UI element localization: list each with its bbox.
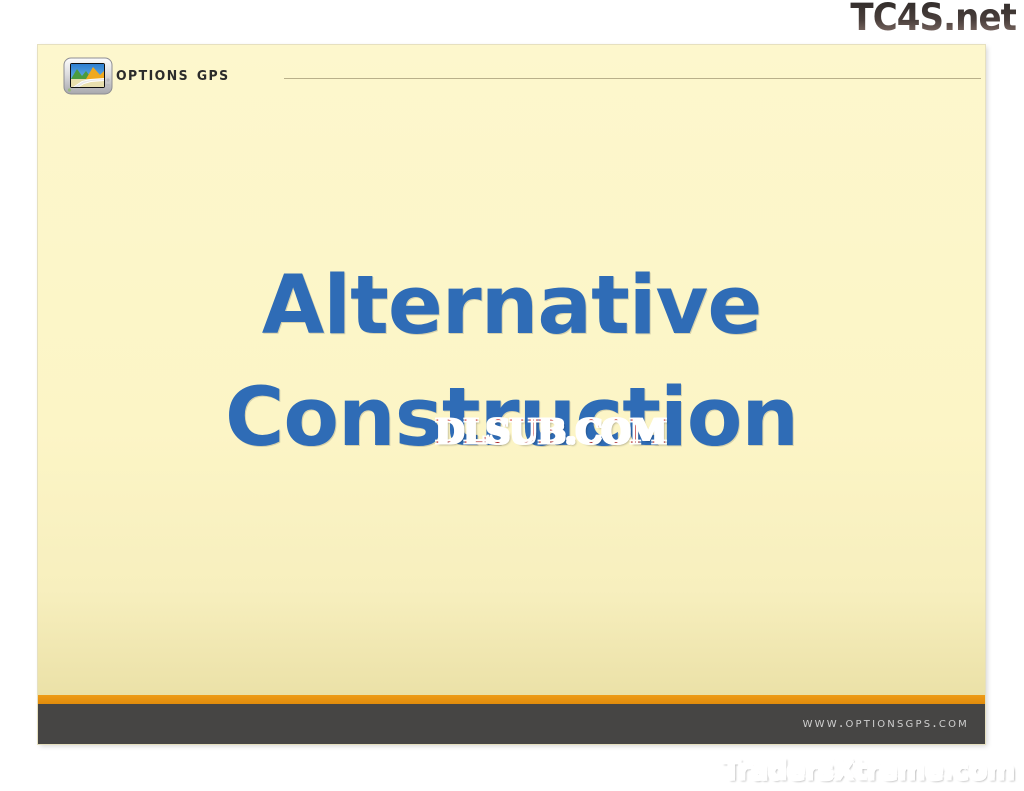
tradersxtreme-watermark: TradersXtreme.com: [722, 753, 1014, 786]
slide-header: Options GPS: [38, 45, 985, 107]
gps-navigator-icon: [60, 55, 116, 99]
tc4s-watermark: TC4S.net: [850, 0, 1016, 38]
brand-title: Options GPS: [116, 63, 230, 85]
footer-website-url: www.OptionsGPS.com: [803, 715, 969, 731]
header-divider: [284, 78, 981, 79]
footer-accent-line: [38, 695, 985, 704]
slide-footer: www.OptionsGPS.com: [38, 704, 985, 744]
presentation-slide: Options GPS Alternative Construction DLS…: [38, 45, 985, 744]
dlsub-watermark: DLSUB.COM: [406, 411, 695, 451]
